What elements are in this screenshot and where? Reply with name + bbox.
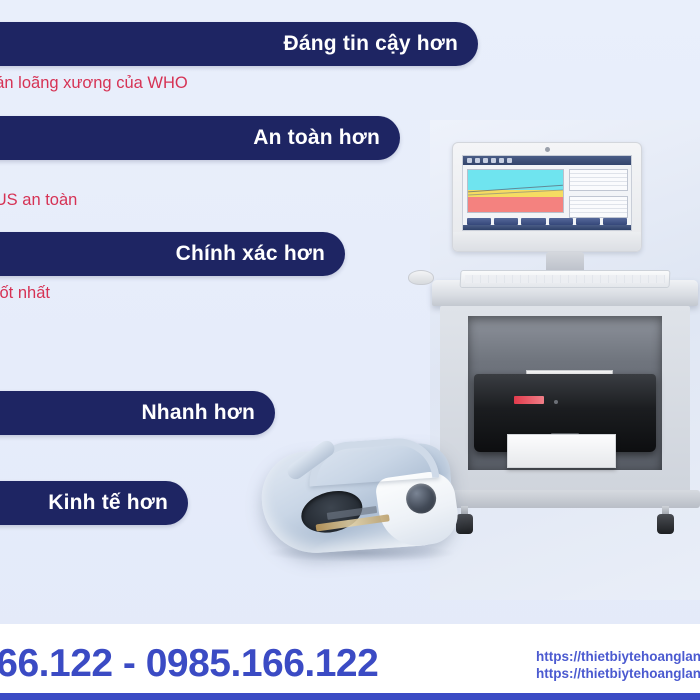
printer [474, 374, 656, 452]
feature-badge-3: Chính xác hơn [0, 232, 345, 276]
contact-banner: 0944.166.122 - 0985.166.122 https://thie… [0, 624, 700, 700]
feature-title-5: Kinh tế hơn [48, 491, 168, 515]
software-results-panel [566, 165, 631, 217]
results-table-bottom [569, 196, 628, 218]
software-toolbar [463, 156, 631, 165]
feature-badge-4: Nhanh hơn [0, 391, 275, 435]
feature-bullet: Đệm lót chân các kích thước [0, 351, 345, 374]
computer-mouse [408, 270, 434, 285]
chart-band-osteoporosis [468, 197, 563, 212]
table-row [570, 213, 627, 217]
monitor-bezel-bottom [453, 232, 641, 251]
software-button [603, 218, 627, 225]
feature-title-2: An toàn hơn [253, 126, 380, 150]
poster-canvas: Đáng tin cậy hơn Tuân thủ theo tiêu chuẩ… [0, 0, 700, 700]
printer-power-led-icon [554, 400, 558, 404]
printer-warning-label [514, 396, 544, 404]
caster-wheel [657, 514, 674, 534]
feature-bullet: Vật tư hao: gel, giấy in [0, 554, 188, 577]
phone-numbers[interactable]: 0944.166.122 - 0985.166.122 [0, 642, 378, 686]
feature-bullet: Công nghệ siêu âm định lượng QUS an toàn [0, 189, 400, 212]
software-body [463, 165, 631, 217]
feature-badge-5: Kinh tế hơn [0, 481, 188, 525]
software-button [494, 218, 518, 225]
toolbar-icon [507, 158, 512, 163]
toolbar-icon [475, 158, 480, 163]
bone-density-chart [467, 169, 564, 213]
feature-bullet: Dữ liệu mật độ xương toàn cầu [0, 328, 345, 351]
printer-output-paper [507, 434, 616, 468]
feature-title-4: Nhanh hơn [141, 401, 255, 425]
toolbar-icon [467, 158, 472, 163]
feature-title-1: Đáng tin cậy hơn [284, 32, 458, 56]
computer-keyboard [460, 270, 671, 288]
chart-band-normal [468, 170, 563, 190]
feature-bullet: Tuân thủ theo tiêu chuẩn chẩn đoán loãng… [0, 72, 478, 95]
results-table-top [569, 169, 628, 191]
feature-bullets-3: Đầu dò tự động tìm kiếm tín hiệu tốt nhấ… [0, 282, 345, 374]
product-photo [430, 120, 700, 600]
table-row [570, 186, 627, 190]
toolbar-icon [491, 158, 496, 163]
ultrasound-bone-densitometer-probe [262, 430, 462, 560]
feature-badge-2: An toàn hơn [0, 116, 400, 160]
website-urls[interactable]: https://thietbiytehoanglan.vn https://th… [536, 648, 700, 682]
feature-badge-1: Đáng tin cậy hơn [0, 22, 478, 66]
software-button-row [463, 218, 631, 225]
feature-bullet: Chưa tới 25 giây mỗi lần đo [0, 441, 275, 464]
contact-banner-inner: 0944.166.122 - 0985.166.122 https://thie… [0, 624, 700, 700]
cart-printer-bay [468, 316, 662, 470]
keyboard-keys [465, 275, 665, 283]
cart-cabinet [440, 306, 690, 496]
toolbar-icon [483, 158, 488, 163]
feature-bullet: Không xâm lấn, không đau [0, 166, 400, 189]
feature-bullet: Hệ thống tự bù nhiệt [0, 305, 345, 328]
website-url-1[interactable]: https://thietbiytehoanglan.vn [536, 648, 700, 665]
feature-bullet: Đầu dò tự động tìm kiếm tín hiệu tốt nhấ… [0, 282, 345, 305]
feature-title-3: Chính xác hơn [176, 242, 325, 266]
feature-bullet: Đầu dò bóng dầu bền bỉ [0, 531, 188, 554]
software-status-bar [463, 225, 631, 230]
banner-bottom-rule [0, 693, 700, 700]
website-url-2[interactable]: https://thietbiytehoanglan.com [536, 665, 700, 682]
cart-caster-right [657, 506, 674, 534]
software-button [467, 218, 491, 225]
feature-bullets-5: Đầu dò bóng dầu bền bỉ Vật tư hao: gel, … [0, 531, 188, 577]
workstation-assembly [430, 120, 700, 600]
software-button [521, 218, 545, 225]
webcam-icon [545, 147, 550, 152]
feature-bullets-1: Tuân thủ theo tiêu chuẩn chẩn đoán loãng… [0, 72, 478, 95]
feature-bullets-2: Không xâm lấn, không đau Công nghệ siêu … [0, 166, 400, 212]
feature-bullets-4: Chưa tới 25 giây mỗi lần đo [0, 441, 275, 464]
software-button [576, 218, 600, 225]
software-button [549, 218, 573, 225]
monitor [452, 142, 642, 252]
toolbar-icon [499, 158, 504, 163]
monitor-screen [462, 155, 632, 231]
